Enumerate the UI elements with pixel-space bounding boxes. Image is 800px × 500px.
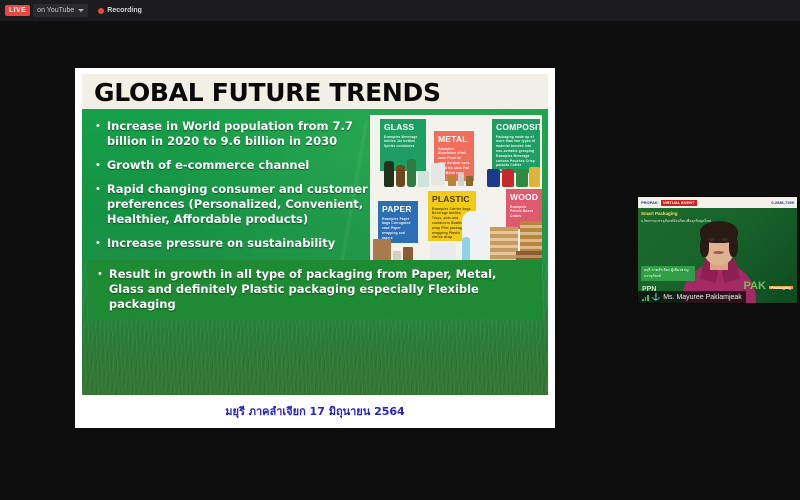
- pin-icon[interactable]: ⚓: [652, 294, 661, 301]
- speaker-hair-right: [729, 235, 738, 257]
- collage-category-name: METAL: [438, 134, 470, 145]
- session-headline-title: Smart Packaging: [641, 211, 678, 216]
- bullet-text: Rapid changing consumer and customer pre…: [107, 182, 382, 227]
- composite-pouch-green: [516, 169, 528, 187]
- screen-share-view: LIVE on YouTube Recording GLOBAL FUTURE …: [0, 0, 800, 500]
- speaker-name-chip: มยุรี ภาคลำเจียก ผู้เชี่ยวชาญบรรจุภัณฑ์: [641, 266, 695, 281]
- slide-title: GLOBAL FUTURE TRENDS: [94, 80, 536, 105]
- bullet-marker: •: [96, 158, 100, 173]
- pak-logo-sub: Packaging: [769, 286, 793, 290]
- slide-title-band: GLOBAL FUTURE TRENDS: [82, 74, 548, 109]
- conclusion-text: Result in growth in all type of packagin…: [109, 267, 532, 312]
- bullet-text: Increase pressure on sustainability: [107, 236, 335, 251]
- metal-paint-can: [431, 163, 445, 185]
- speaker-eye-right: [721, 238, 728, 241]
- slide-footer: มยุรี ภาคลำเจียก 17 มิถุนายน 2564: [82, 395, 548, 422]
- participant-name: Ms. Mayuree Paklamjeak: [663, 294, 742, 301]
- bullet-text: Increase in World population from 7.7 bi…: [107, 119, 382, 149]
- bullet-marker: •: [96, 119, 100, 149]
- composite-pouch-blue: [487, 169, 500, 187]
- glass-jar: [418, 171, 429, 187]
- live-badge: LIVE: [5, 5, 30, 16]
- banner-phone: 0-2686-7299: [771, 200, 794, 205]
- stream-target-dropdown[interactable]: on YouTube: [33, 4, 88, 17]
- glass-bottle-dark: [384, 161, 394, 187]
- collage-category-name: PLASTIC: [432, 194, 472, 205]
- slide-conclusion: • Result in growth in all type of packag…: [88, 260, 542, 319]
- pak-packaging-logo: PAK Packaging: [744, 281, 794, 291]
- record-dot-icon: [98, 8, 104, 14]
- shared-slide[interactable]: GLOBAL FUTURE TRENDS • Increase in World…: [75, 68, 555, 428]
- list-item: • Increase in World population from 7.7 …: [96, 119, 382, 149]
- collage-category-desc: Examples Beverage bottles Jar bottles Sp…: [384, 135, 422, 149]
- collage-category-paper: PAPER Examples Paper bags Corrugated cas…: [378, 201, 418, 243]
- composite-carton: [529, 167, 540, 187]
- collage-category-name: GLASS: [384, 122, 422, 133]
- collage-category-name: COMPOSITE: [496, 122, 536, 133]
- propak-logo: PROPAK: [641, 201, 658, 205]
- collage-category-desc: Examples Paper bags Corrugated case Pape…: [382, 217, 414, 241]
- composite-pouch-red: [502, 169, 514, 187]
- stream-target-label: on YouTube: [37, 7, 74, 14]
- bullet-marker: •: [96, 182, 100, 227]
- bullet-list: • Increase in World population from 7.7 …: [82, 109, 382, 251]
- bullet-marker: •: [98, 267, 102, 312]
- list-item: • Growth of e-commerce channel: [96, 158, 382, 173]
- event-banner: PROPAK VIRTUAL EVENT 0-2686-7299: [638, 197, 797, 208]
- slide-body: • Increase in World population from 7.7 …: [82, 109, 548, 395]
- footer-credit: มยุรี ภาคลำเจียก 17 มิถุนายน 2564: [225, 405, 404, 418]
- participant-video-tile[interactable]: PROPAK VIRTUAL EVENT 0-2686-7299 Smart P…: [637, 196, 798, 304]
- list-item: • Rapid changing consumer and customer p…: [96, 182, 382, 227]
- participant-name-bar: ⚓ Ms. Mayuree Paklamjeak: [638, 291, 746, 303]
- collage-category-name: PAPER: [382, 204, 414, 215]
- list-item: • Increase pressure on sustainability: [96, 236, 382, 251]
- collage-category-composite: COMPOSITE Packaging made up of more than…: [492, 119, 540, 173]
- virtual-event-badge: VIRTUAL EVENT: [661, 200, 697, 206]
- metal-tin-can: [466, 176, 473, 186]
- aluminium-can: [458, 173, 464, 186]
- glass-bottle-green: [407, 159, 416, 187]
- recording-indicator[interactable]: Recording: [98, 7, 142, 14]
- signal-bars-icon: [642, 294, 649, 301]
- slide-inner: GLOBAL FUTURE TRENDS • Increase in World…: [82, 74, 548, 422]
- chevron-down-icon[interactable]: [78, 9, 84, 12]
- wood-crate: [520, 221, 542, 251]
- collage-category-desc: Examples Pallets Boxes Crates: [510, 205, 538, 219]
- collage-category-name: WOOD: [510, 192, 538, 203]
- speaker-eye-left: [708, 238, 715, 241]
- glass-bottle-amber: [396, 165, 405, 187]
- metal-tin-can: [448, 175, 456, 186]
- wood-crate: [490, 227, 518, 261]
- bullet-text: Growth of e-commerce channel: [107, 158, 309, 173]
- pak-logo-text: PAK: [744, 280, 766, 292]
- recording-label: Recording: [107, 7, 142, 14]
- speaker-mouth: [713, 251, 724, 254]
- stream-status-bar: LIVE on YouTube Recording: [0, 0, 800, 21]
- bullet-marker: •: [96, 236, 100, 251]
